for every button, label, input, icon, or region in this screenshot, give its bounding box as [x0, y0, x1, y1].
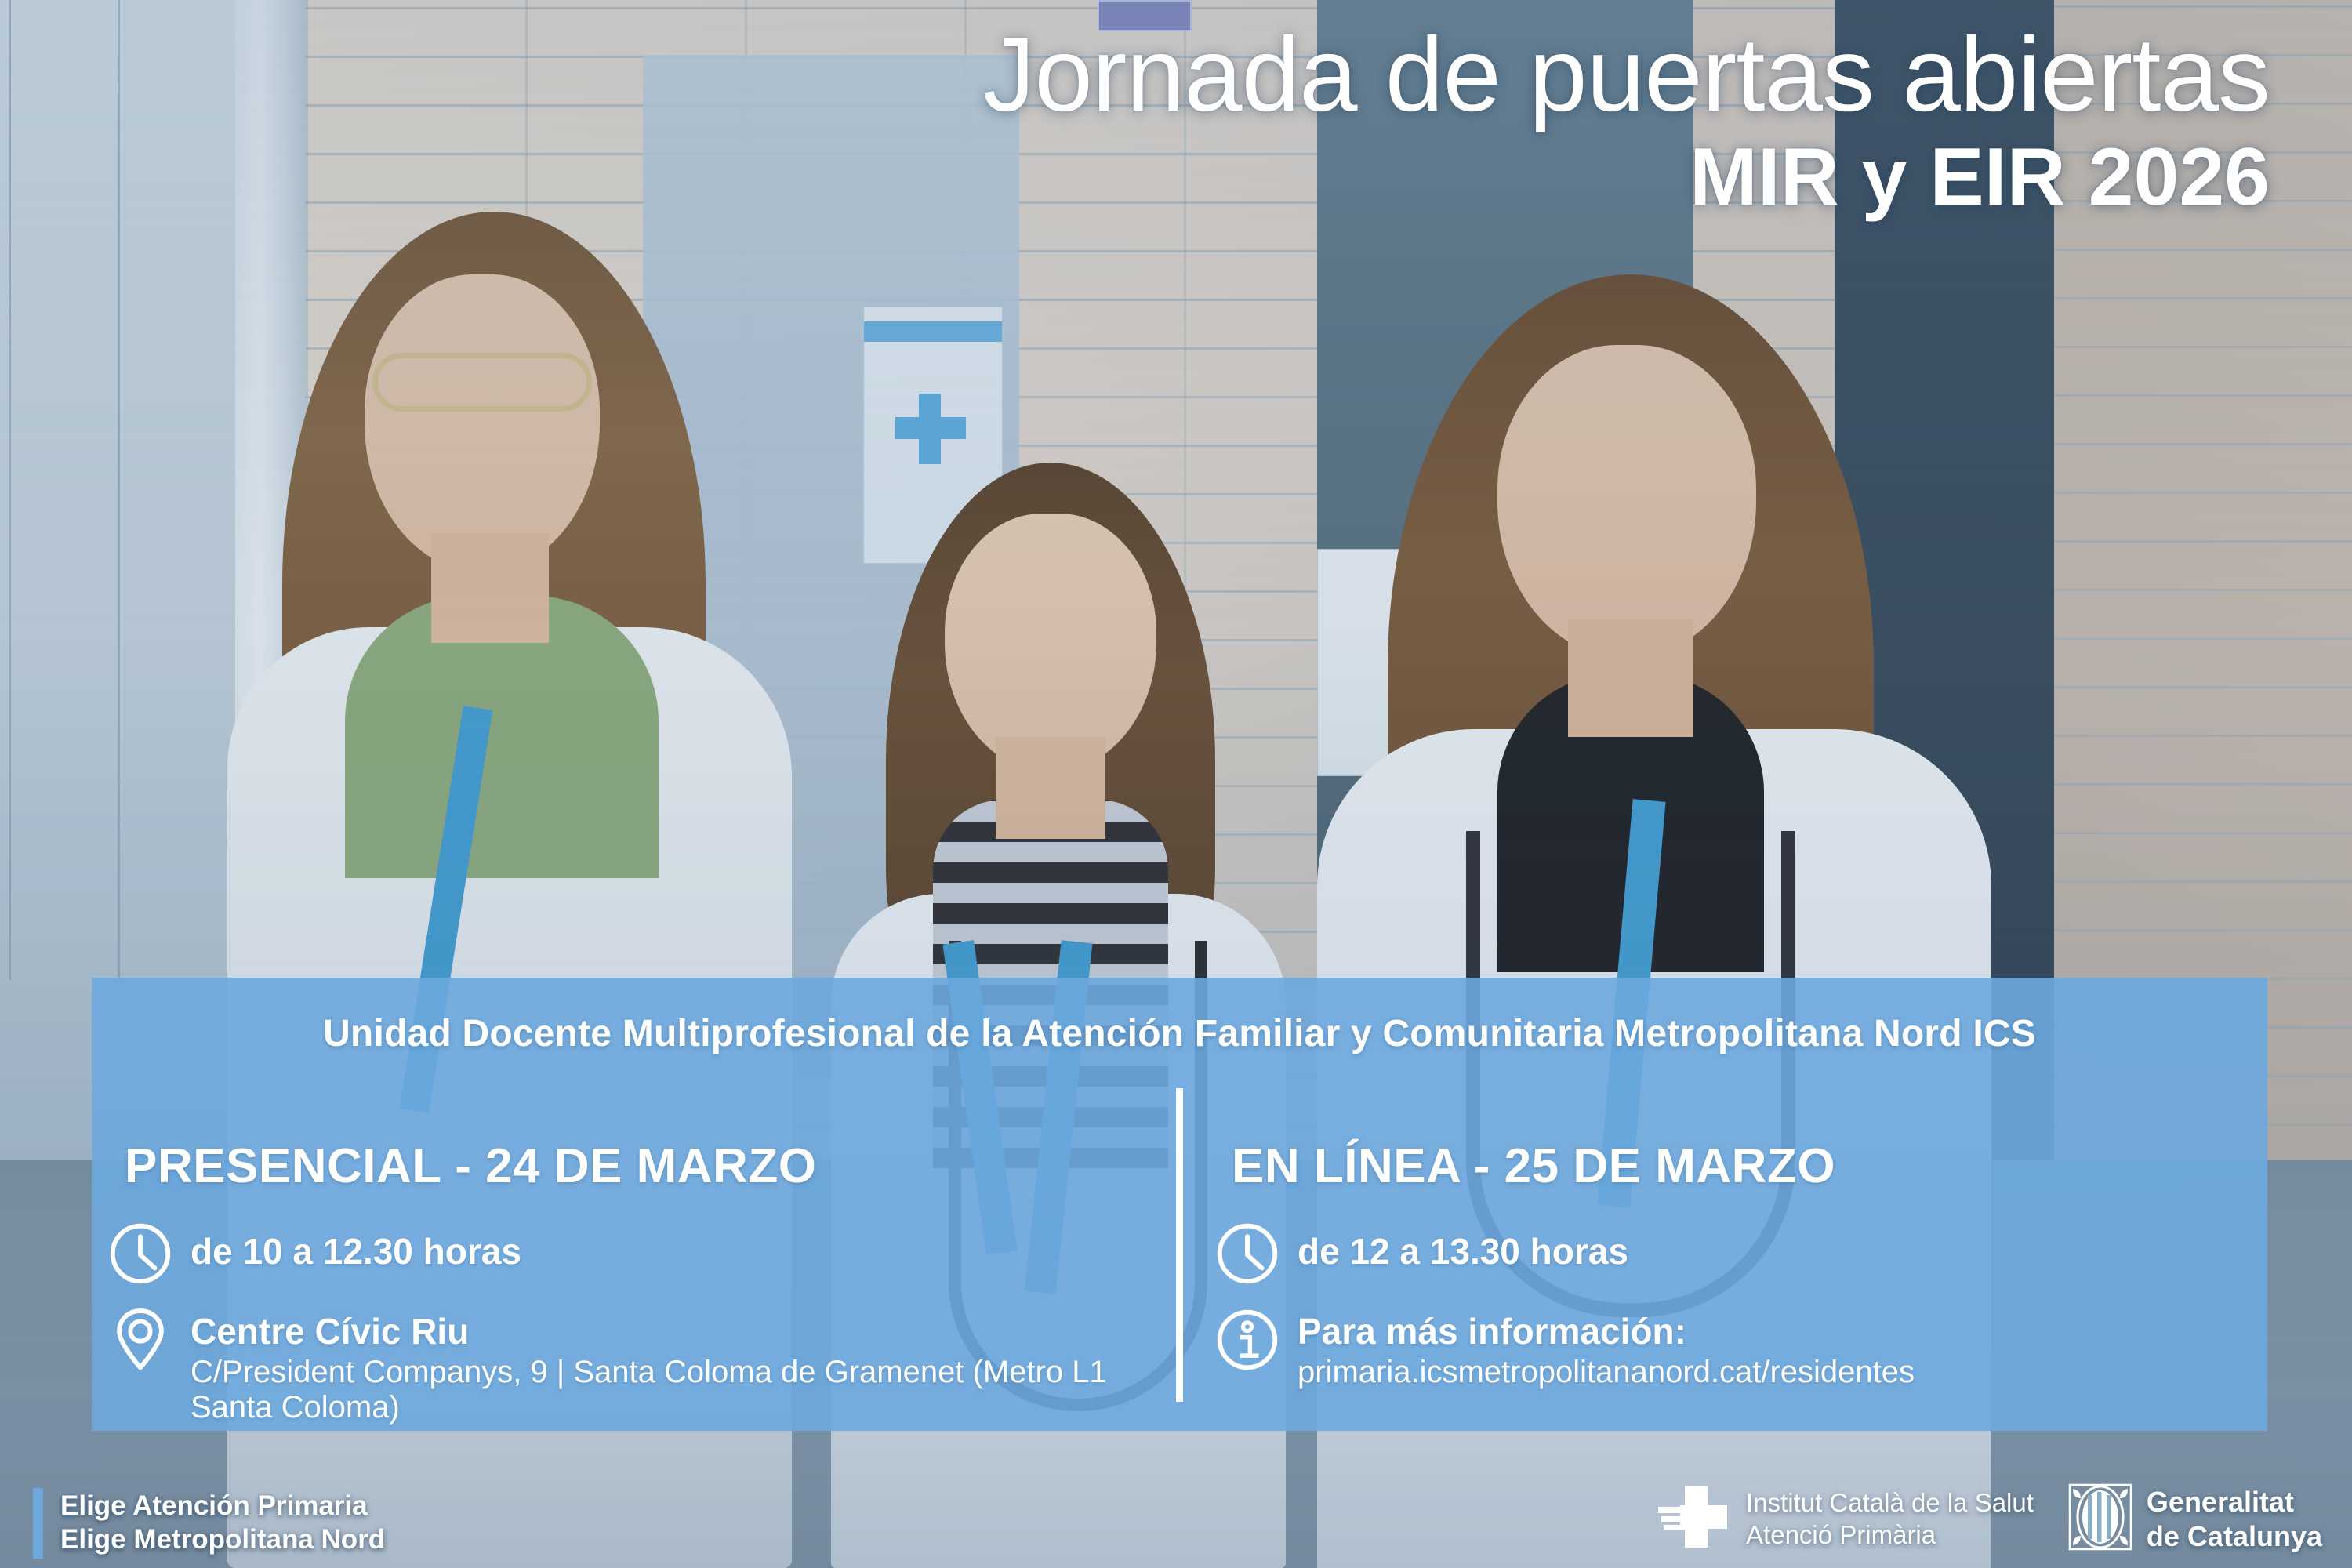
- online-info-label: Para más información:: [1298, 1312, 1915, 1352]
- online-hours-row: de 12 a 13.30 horas: [1214, 1221, 2265, 1287]
- unit-heading: Unidad Docente Multiprofesional de la At…: [92, 1012, 2267, 1055]
- presencial-hours-row: de 10 a 12.30 horas: [107, 1221, 1158, 1287]
- poster-root: Jornada de puertas abiertas MIR y EIR 20…: [0, 0, 2352, 1568]
- clock-icon: [107, 1221, 173, 1287]
- presencial-hours-text: de 10 a 12.30 horas: [191, 1232, 521, 1272]
- online-info-url[interactable]: primaria.icsmetropolitananord.cat/reside…: [1298, 1355, 1915, 1391]
- column-divider: [1176, 1088, 1183, 1402]
- clock-icon: [1214, 1221, 1280, 1287]
- info-circle-icon: [1214, 1307, 1280, 1373]
- presencial-venue-row: Centre Cívic Riu C/President Companys, 9…: [107, 1307, 1158, 1426]
- ics-cross-icon: [1657, 1482, 1732, 1556]
- presencial-venue-name: Centre Cívic Riu: [191, 1312, 1158, 1352]
- ics-name-line-2: Atenció Primària: [1746, 1519, 2034, 1551]
- info-panel: Unidad Docente Multiprofesional de la At…: [92, 978, 2267, 1431]
- title-block: Jornada de puertas abiertas MIR y EIR 20…: [0, 22, 2270, 219]
- logo-generalitat-catalunya: Generalitat de Catalunya: [2068, 1483, 2322, 1555]
- footer-slogan: Elige Atención Primaria Elige Metropolit…: [33, 1488, 385, 1559]
- accent-bar: [33, 1488, 43, 1559]
- page-title: Jornada de puertas abiertas: [0, 22, 2270, 129]
- column-online-title: EN LÍNEA - 25 DE MARZO: [1232, 1138, 2265, 1194]
- logo-institut-catala-salut: Institut Català de la Salut Atenció Prim…: [1657, 1482, 2034, 1556]
- column-presencial-title: PRESENCIAL - 24 DE MARZO: [125, 1138, 1158, 1194]
- slogan-line-2: Elige Metropolitana Nord: [60, 1523, 385, 1557]
- online-hours-text: de 12 a 13.30 horas: [1298, 1232, 1628, 1272]
- page-subtitle: MIR y EIR 2026: [0, 136, 2270, 219]
- ics-name-line-1: Institut Català de la Salut: [1746, 1487, 2034, 1519]
- column-online: EN LÍNEA - 25 DE MARZO de 12 a 13.30 hor…: [1214, 1138, 2265, 1410]
- footer-logos: Institut Català de la Salut Atenció Prim…: [1657, 1482, 2322, 1556]
- gencat-name-line-2: de Catalunya: [2147, 1519, 2322, 1554]
- gencat-name-line-1: Generalitat: [2147, 1485, 2322, 1519]
- online-info-row: Para más información: primaria.icsmetrop…: [1214, 1307, 2265, 1390]
- location-pin-icon: [107, 1307, 173, 1373]
- generalitat-shield-icon: [2068, 1483, 2132, 1555]
- presencial-venue-address: C/President Companys, 9 | Santa Coloma d…: [191, 1355, 1158, 1426]
- column-presencial: PRESENCIAL - 24 DE MARZO de 10 a 12.30 h…: [107, 1138, 1158, 1446]
- slogan-line-1: Elige Atención Primaria: [60, 1490, 385, 1523]
